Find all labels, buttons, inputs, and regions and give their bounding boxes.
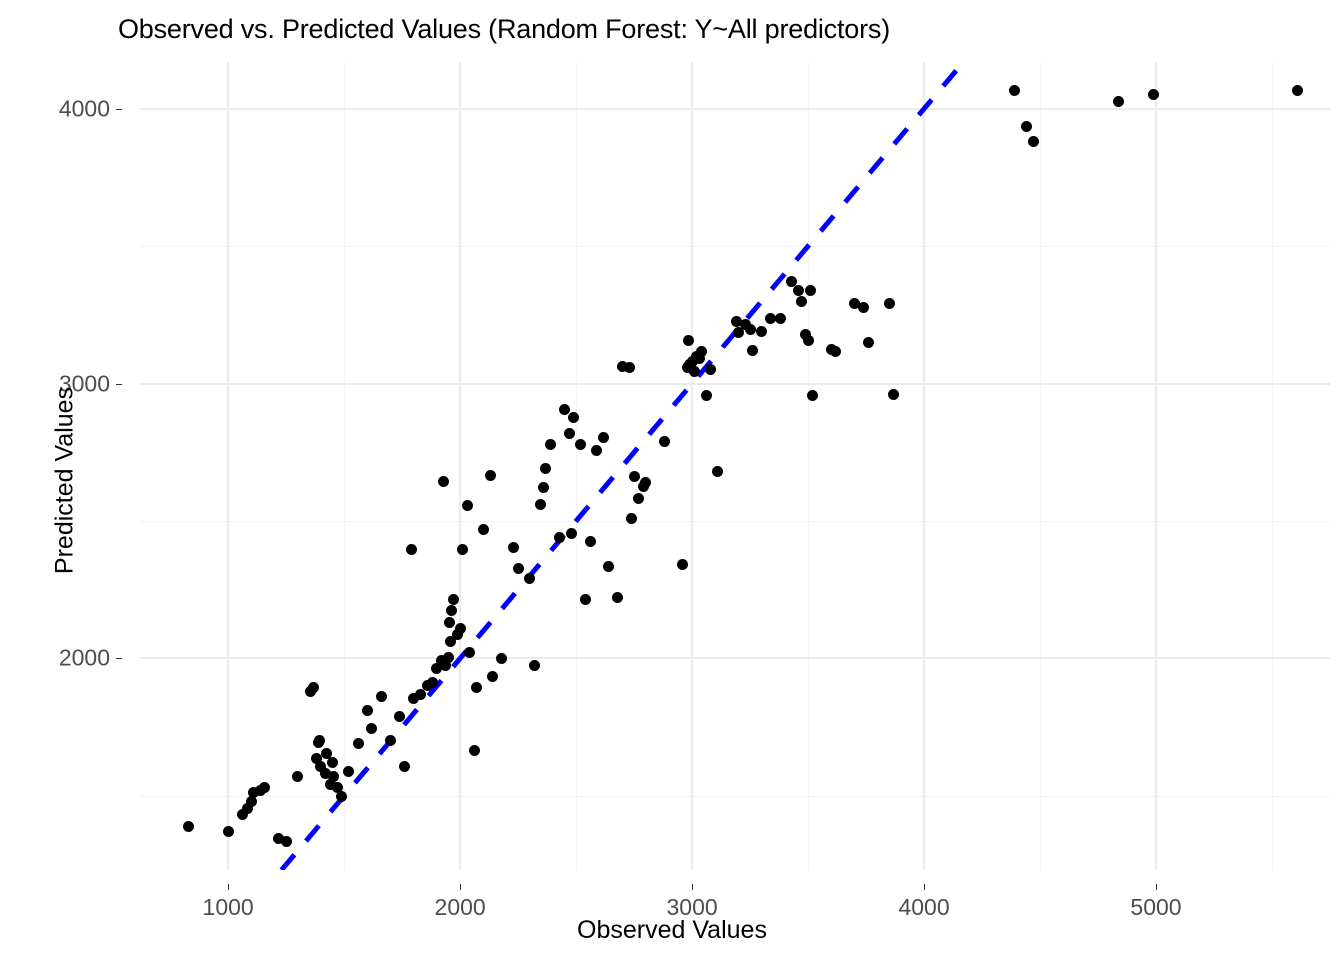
- data-point: [292, 771, 303, 782]
- gridline-vertical-major: [691, 62, 693, 870]
- data-point: [747, 345, 758, 356]
- data-point: [564, 428, 575, 439]
- data-point: [580, 594, 591, 605]
- data-point: [438, 476, 449, 487]
- gridline-vertical-major: [1155, 62, 1157, 870]
- data-point: [183, 821, 194, 832]
- data-point: [863, 337, 874, 348]
- data-point: [884, 298, 895, 309]
- data-point: [705, 364, 716, 375]
- gridline-vertical-minor: [576, 62, 577, 870]
- data-point: [448, 594, 459, 605]
- data-point: [1148, 89, 1159, 100]
- data-point: [457, 544, 468, 555]
- data-point: [696, 346, 707, 357]
- data-point: [1028, 136, 1039, 147]
- data-point: [353, 738, 364, 749]
- data-point: [554, 532, 565, 543]
- gridline-vertical-minor: [808, 62, 809, 870]
- x-axis-tick-mark: [228, 884, 229, 890]
- data-point: [471, 682, 482, 693]
- data-point: [496, 653, 507, 664]
- gridline-vertical-major: [459, 62, 461, 870]
- gridline-vertical-major: [923, 62, 925, 870]
- data-point: [336, 791, 347, 802]
- y-axis-tick-label: 4000: [59, 95, 110, 122]
- data-point: [259, 782, 270, 793]
- data-point: [385, 735, 396, 746]
- data-point: [566, 528, 577, 539]
- data-point: [1021, 121, 1032, 132]
- data-point: [677, 559, 688, 570]
- data-point: [633, 493, 644, 504]
- gridline-vertical-minor: [344, 62, 345, 870]
- data-point: [888, 389, 899, 400]
- data-point: [1009, 85, 1020, 96]
- data-point: [568, 412, 579, 423]
- data-point: [712, 466, 723, 477]
- gridline-vertical-minor: [1272, 62, 1273, 870]
- data-point: [775, 313, 786, 324]
- data-point: [591, 445, 602, 456]
- data-point: [529, 660, 540, 671]
- gridline-horizontal-major: [140, 108, 1330, 110]
- data-point: [223, 826, 234, 837]
- x-axis-tick-mark: [1156, 884, 1157, 890]
- y-axis-tick-mark: [116, 384, 122, 385]
- data-point: [444, 617, 455, 628]
- data-point: [343, 766, 354, 777]
- data-point: [538, 482, 549, 493]
- data-point: [745, 324, 756, 335]
- identity-reference-line: [140, 62, 1330, 870]
- data-point: [603, 561, 614, 572]
- data-point: [624, 362, 635, 373]
- data-point: [805, 285, 816, 296]
- data-point: [756, 326, 767, 337]
- data-point: [585, 536, 596, 547]
- data-point: [796, 296, 807, 307]
- gridline-vertical-major: [227, 62, 229, 870]
- data-point: [462, 500, 473, 511]
- data-point: [328, 771, 339, 782]
- data-point: [540, 463, 551, 474]
- data-point: [626, 513, 637, 524]
- data-point: [469, 745, 480, 756]
- data-point: [485, 470, 496, 481]
- data-point: [535, 499, 546, 510]
- data-point: [803, 335, 814, 346]
- data-point: [427, 677, 438, 688]
- data-point: [366, 723, 377, 734]
- gridline-horizontal-major: [140, 657, 1330, 659]
- data-point: [308, 682, 319, 693]
- data-point: [443, 652, 454, 663]
- data-point: [281, 836, 292, 847]
- data-point: [478, 524, 489, 535]
- data-point: [394, 711, 405, 722]
- data-point: [659, 436, 670, 447]
- y-axis-title: Predicted Values: [51, 201, 80, 761]
- data-point: [524, 573, 535, 584]
- x-axis-tick-mark: [924, 884, 925, 890]
- data-point: [807, 390, 818, 401]
- data-point: [689, 366, 700, 377]
- gridline-horizontal-major: [140, 383, 1330, 385]
- scatter-plot: Observed vs. Predicted Values (Random Fo…: [0, 0, 1344, 960]
- x-axis-title: Observed Values: [0, 916, 1344, 945]
- data-point: [701, 390, 712, 401]
- data-point: [1113, 96, 1124, 107]
- gridline-vertical-minor: [1040, 62, 1041, 870]
- data-point: [513, 563, 524, 574]
- data-point: [508, 542, 519, 553]
- data-point: [406, 544, 417, 555]
- data-point: [376, 691, 387, 702]
- data-point: [327, 757, 338, 768]
- data-point: [455, 623, 466, 634]
- data-point: [640, 477, 651, 488]
- x-axis-ticks: 10002000300040005000: [140, 884, 1330, 916]
- data-point: [830, 346, 841, 357]
- data-point: [575, 439, 586, 450]
- y-axis-tick-mark: [116, 658, 122, 659]
- data-point: [545, 439, 556, 450]
- data-point: [858, 302, 869, 313]
- data-point: [399, 761, 410, 772]
- data-point: [362, 705, 373, 716]
- data-point: [793, 285, 804, 296]
- gridline-horizontal-minor: [140, 246, 1330, 247]
- gridline-horizontal-minor: [140, 521, 1330, 522]
- data-point: [314, 735, 325, 746]
- chart-title: Observed vs. Predicted Values (Random Fo…: [118, 14, 890, 45]
- gridline-horizontal-minor: [140, 796, 1330, 797]
- data-point: [1292, 85, 1303, 96]
- y-axis-tick-mark: [116, 109, 122, 110]
- x-axis-tick-mark: [692, 884, 693, 890]
- plot-panel: [140, 62, 1330, 870]
- x-axis-tick-mark: [460, 884, 461, 890]
- data-point: [446, 605, 457, 616]
- data-point: [612, 592, 623, 603]
- data-point: [598, 432, 609, 443]
- data-point: [487, 671, 498, 682]
- data-point: [629, 471, 640, 482]
